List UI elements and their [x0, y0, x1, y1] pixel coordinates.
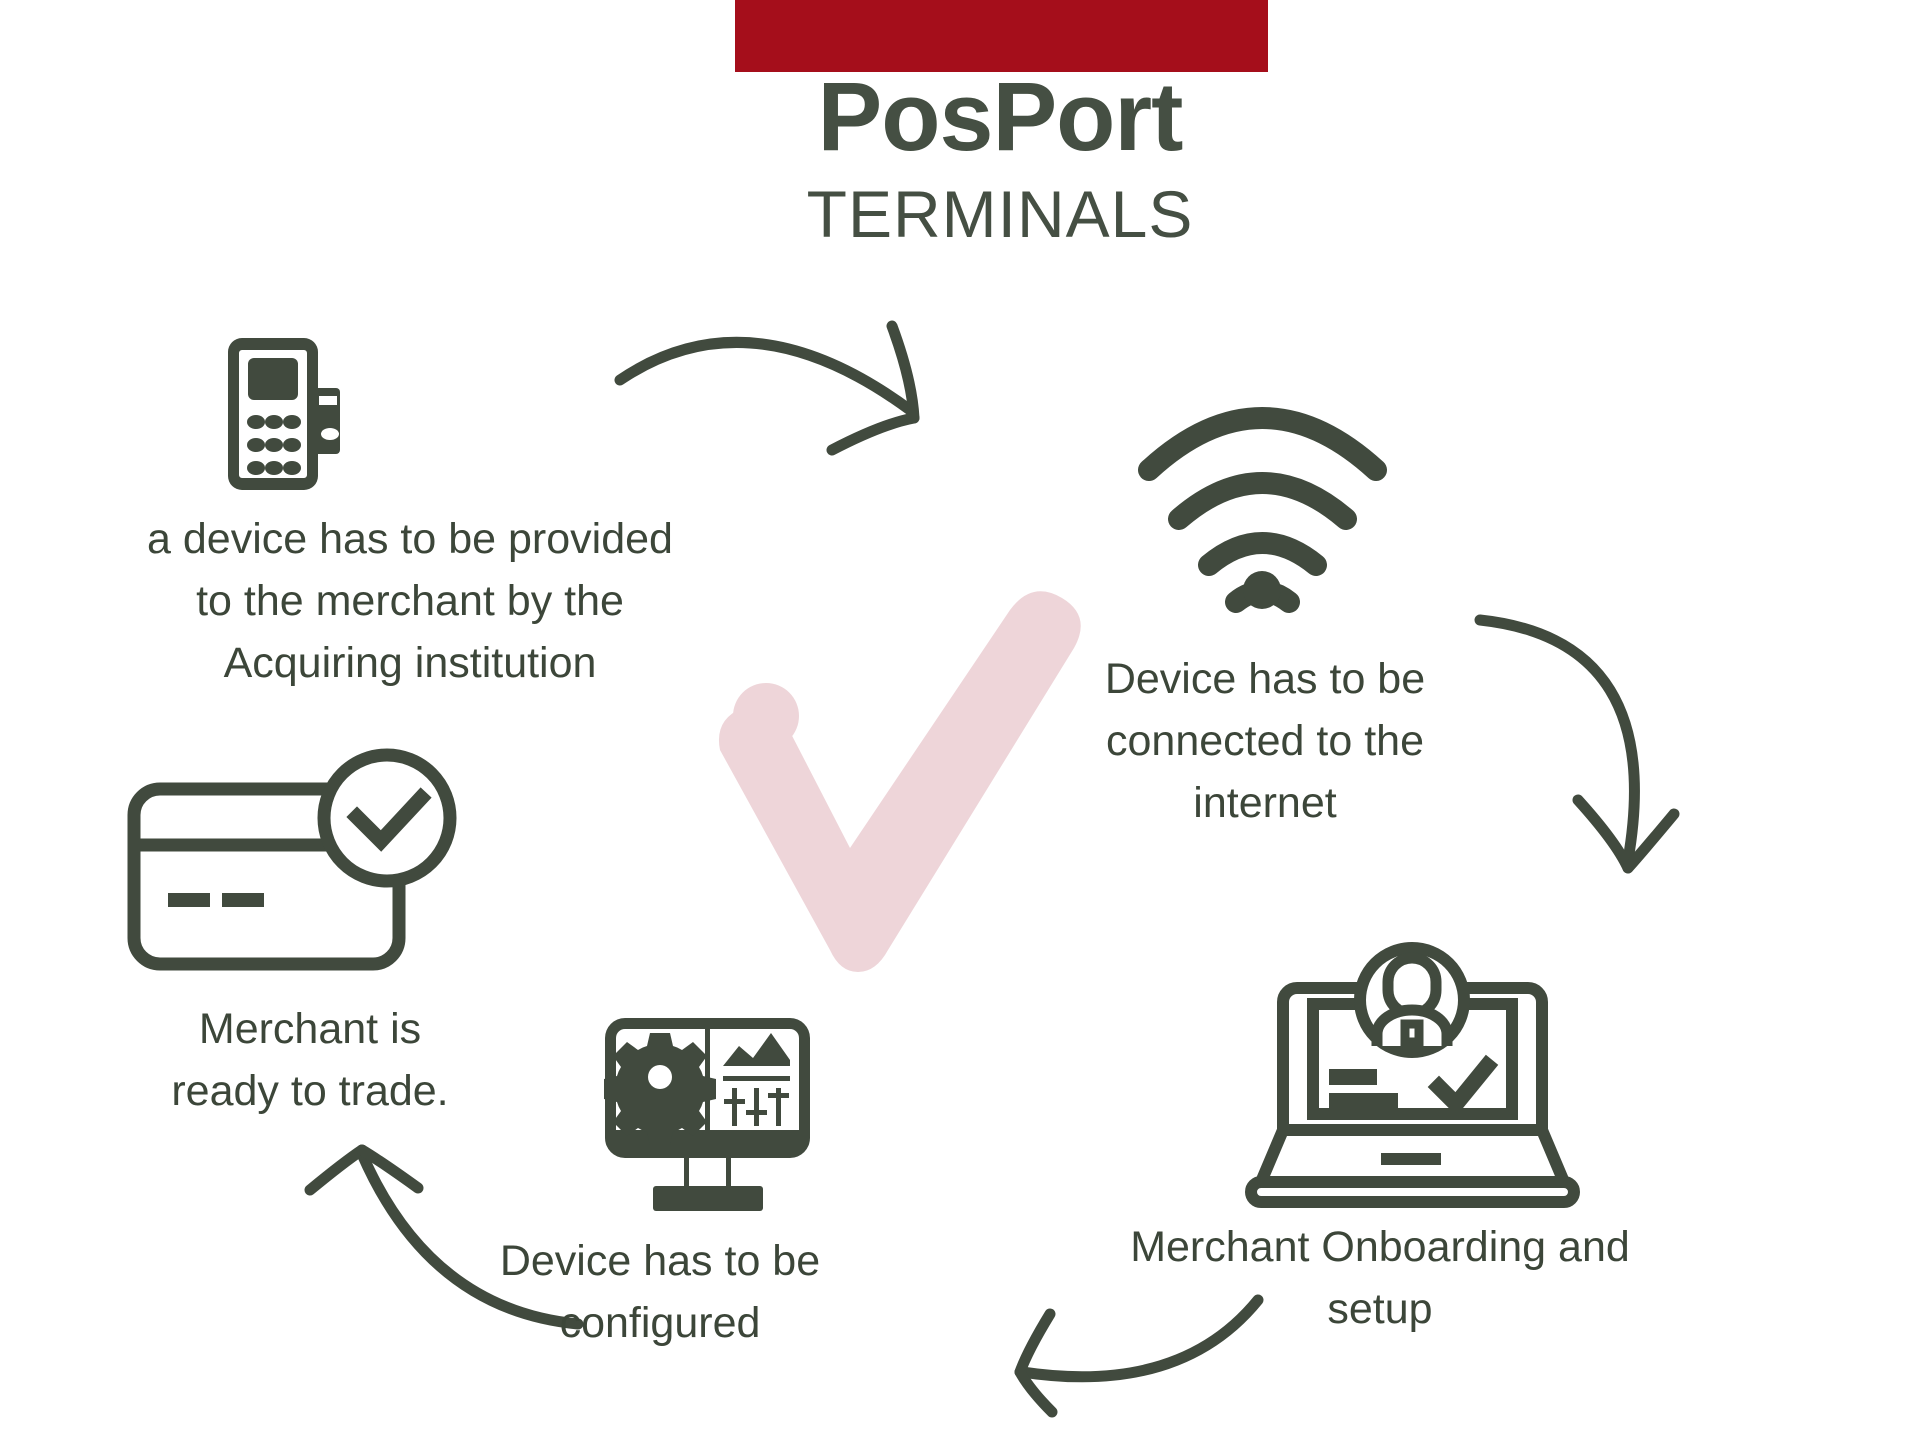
caption-merchant-ready: Merchant is ready to trade.: [110, 998, 510, 1122]
laptop-user-icon: [1265, 940, 1560, 1210]
credit-card-check-icon: [125, 745, 460, 980]
caption-device-provided: a device has to be provided to the merch…: [60, 508, 760, 694]
arrow-provided-to-internet: [620, 320, 1060, 460]
pos-terminal-icon: [230, 330, 340, 490]
infographic-canvas: PosPort TERMINALS: [0, 0, 1920, 1440]
caption-device-internet: Device has to be connected to the intern…: [1065, 648, 1465, 834]
page-title: PosPort: [560, 66, 1440, 168]
caption-device-configured: Device has to be configured: [460, 1230, 860, 1354]
caption-merchant-onboarding: Merchant Onboarding and setup: [1060, 1216, 1700, 1340]
page-subtitle: TERMINALS: [560, 180, 1440, 249]
pink-checkmark: [700, 620, 1120, 1020]
wifi-icon: [1135, 400, 1390, 605]
arrow-internet-to-onboarding: [1480, 610, 1740, 970]
monitor-settings-icon: [605, 1000, 810, 1215]
